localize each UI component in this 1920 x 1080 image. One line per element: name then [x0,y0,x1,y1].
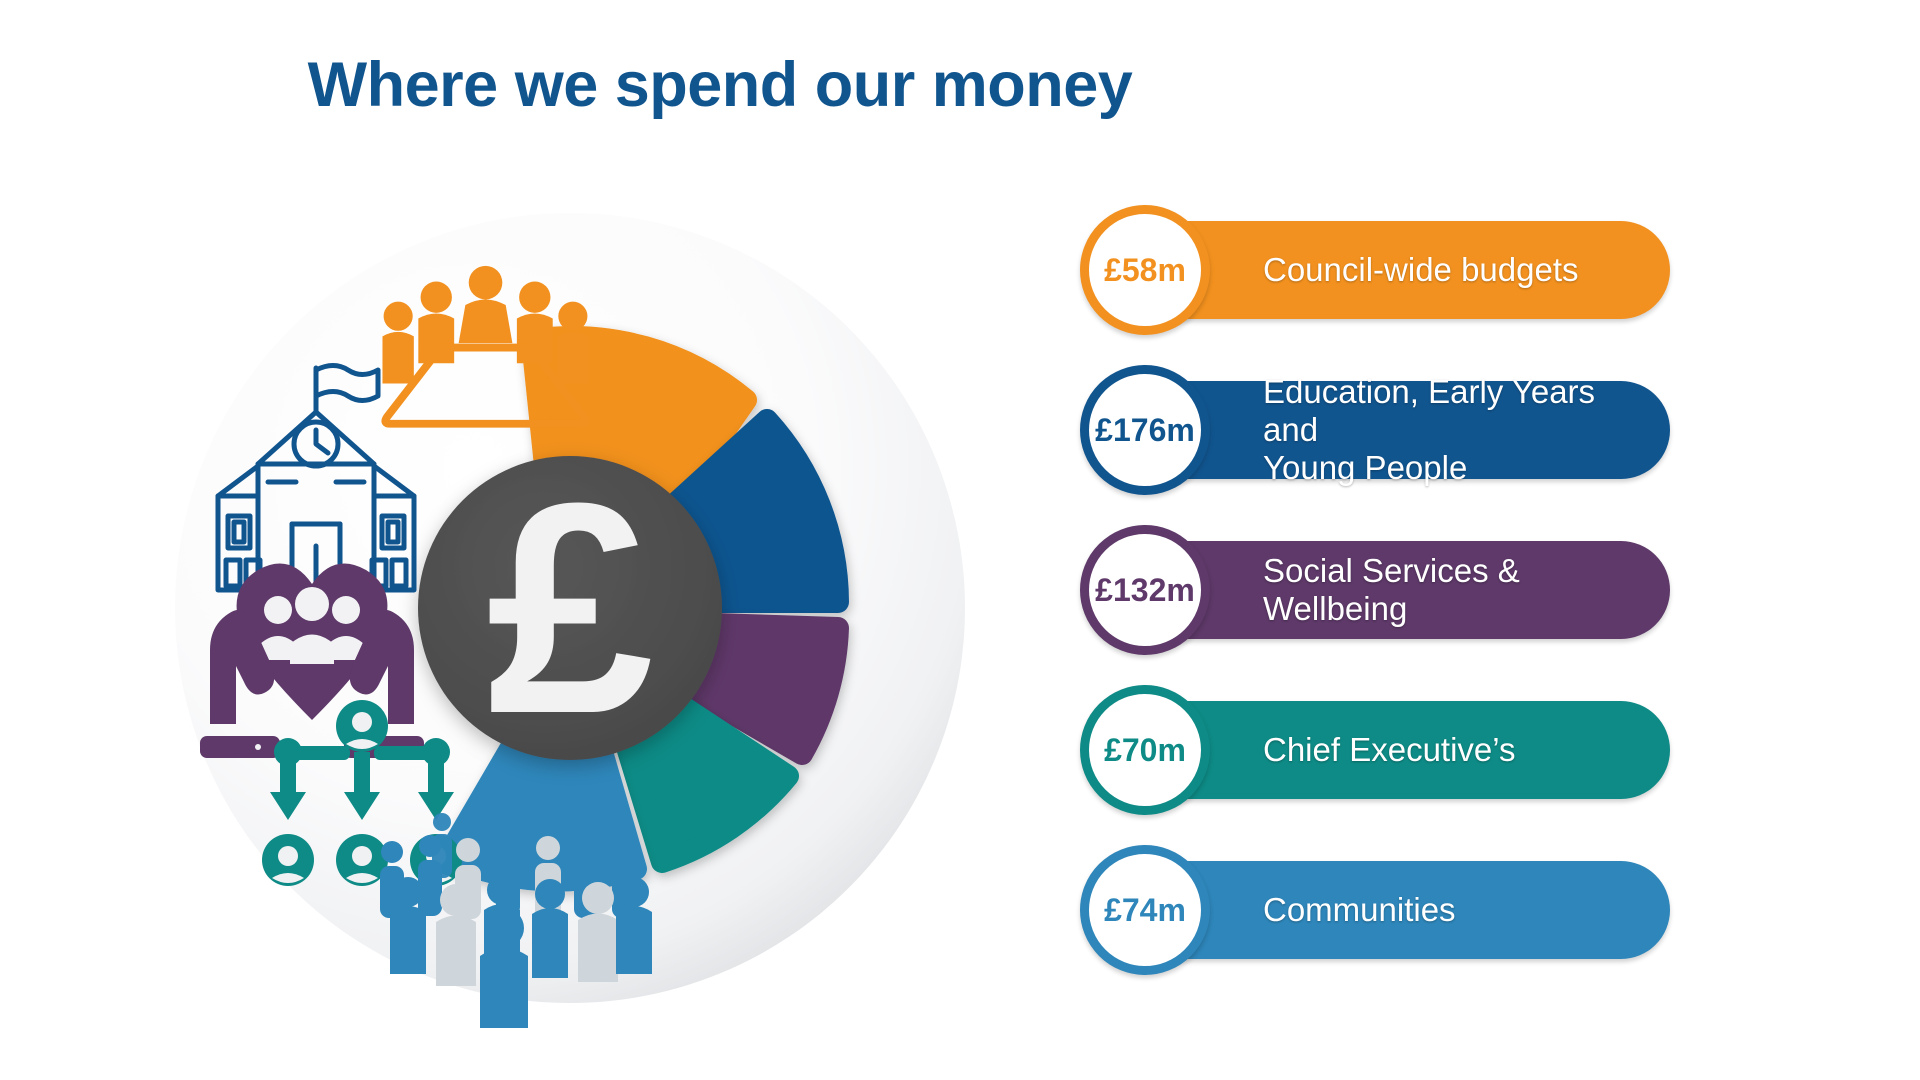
legend-value: £132m [1095,572,1195,609]
donut-svg [150,188,990,1028]
legend-item-chief-executives[interactable]: Chief Executive’s £70m [1080,685,1670,815]
legend-value: £176m [1095,412,1195,449]
legend-label: Social Services & Wellbeing [1263,552,1642,629]
legend-value-bubble[interactable]: £132m [1080,525,1210,655]
legend-label-line: Social Services & Wellbeing [1263,552,1520,627]
legend-label-line: Education, Early Years and [1263,373,1595,448]
donut-chart: £ [150,188,990,1028]
legend-label: Chief Executive’s [1263,731,1516,769]
legend-label-line: Communities [1263,891,1456,928]
center-hub-circle [418,456,722,760]
legend-value: £58m [1104,252,1186,289]
legend-label-line: Council-wide budgets [1263,251,1579,288]
legend-label: Education, Early Years and Young People [1263,373,1642,488]
legend-value: £74m [1104,892,1186,929]
legend-value-bubble[interactable]: £58m [1080,205,1210,335]
legend-label-line: Young People [1263,449,1467,486]
legend-list: Council-wide budgets £58m Education, Ear… [1080,205,1670,1005]
legend-item-education[interactable]: Education, Early Years and Young People … [1080,365,1670,495]
legend-label-line: Chief Executive’s [1263,731,1516,768]
legend-value-bubble[interactable]: £176m [1080,365,1210,495]
legend-item-communities[interactable]: Communities £74m [1080,845,1670,975]
legend-value-bubble[interactable]: £70m [1080,685,1210,815]
legend-label: Communities [1263,891,1456,929]
legend-label: Council-wide budgets [1263,251,1579,289]
legend-item-council-wide-budgets[interactable]: Council-wide budgets £58m [1080,205,1670,335]
legend-item-social-services[interactable]: Social Services & Wellbeing £132m [1080,525,1670,655]
legend-value-bubble[interactable]: £74m [1080,845,1210,975]
legend-value: £70m [1104,732,1186,769]
infographic-page: Where we spend our money [0,0,1920,1080]
page-title: Where we spend our money [0,52,1920,118]
